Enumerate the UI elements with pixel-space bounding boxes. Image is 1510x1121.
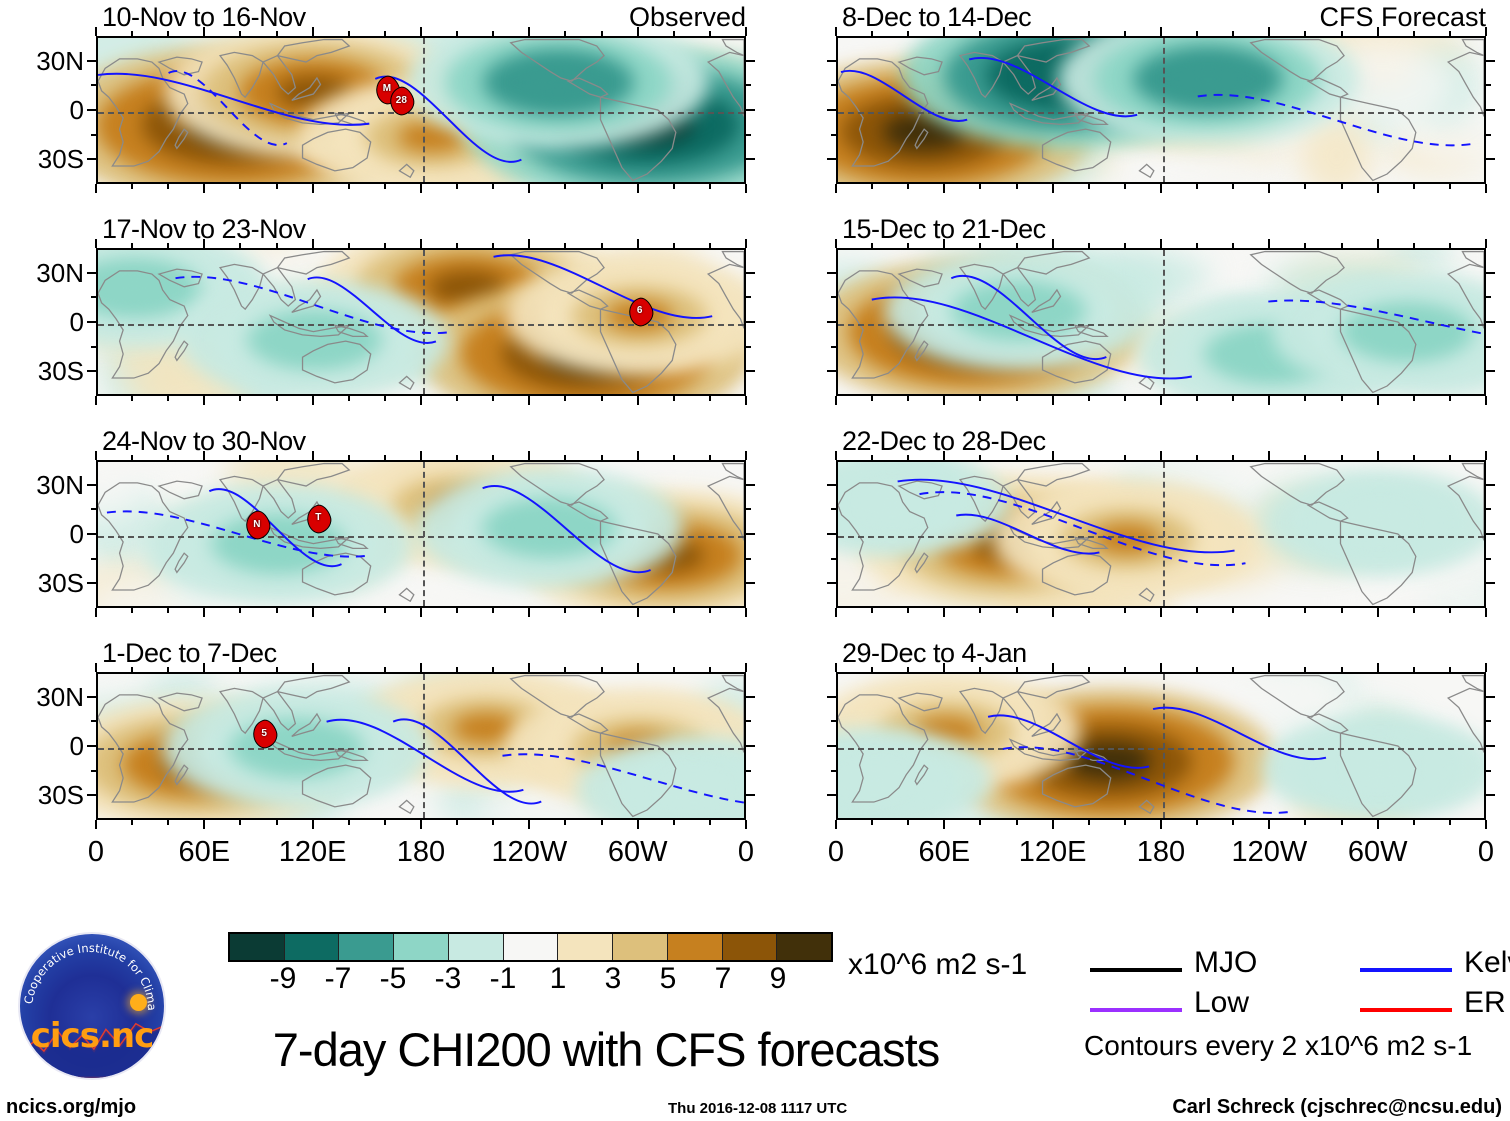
colorbar-swatch: [668, 934, 723, 960]
axis-tick: [871, 243, 873, 248]
axis-tick: [239, 608, 241, 613]
storm-label: N: [246, 511, 268, 537]
axis-tick: [276, 455, 278, 460]
axis-tick: [1486, 60, 1495, 62]
axis-tick: [835, 27, 837, 36]
storm-marker: N: [246, 511, 268, 537]
legend-label: ER: [1464, 986, 1506, 1020]
axis-tick: [827, 370, 836, 372]
axis-tick: [1485, 608, 1487, 617]
axis-tick: [979, 608, 981, 613]
axis-tick: [746, 794, 755, 796]
axis-tick: [131, 31, 133, 36]
x-axis-label: 120W: [469, 836, 589, 869]
axis-tick: [673, 396, 675, 401]
axis-tick: [1341, 31, 1343, 36]
axis-tick: [1124, 667, 1126, 672]
axis-tick: [1196, 396, 1198, 401]
axis-tick: [1486, 109, 1495, 111]
axis-tick: [601, 243, 603, 248]
panel-title-p4: 1-Dec to 7-Dec: [102, 638, 277, 669]
axis-tick: [827, 745, 836, 747]
axis-tick: [746, 558, 751, 560]
axis-tick: [831, 508, 836, 510]
legend-label: Kelvin x2: [1464, 946, 1510, 980]
axis-tick: [907, 608, 909, 613]
axis-tick: [91, 296, 96, 298]
figure-title: 7-day CHI200 with CFS forecasts: [196, 1022, 1016, 1077]
axis-tick: [1268, 184, 1270, 193]
colorbar-swatch: [339, 934, 394, 960]
axis-tick: [831, 558, 836, 560]
axis-tick: [871, 608, 873, 613]
axis-tick: [1485, 820, 1487, 829]
axis-tick: [1486, 484, 1495, 486]
axis-tick: [1341, 455, 1343, 460]
axis-tick: [746, 370, 755, 372]
axis-tick: [312, 608, 314, 617]
storm-label: 28: [390, 87, 412, 113]
axis-tick: [239, 31, 241, 36]
axis-tick: [276, 31, 278, 36]
storm-label: 5: [253, 720, 275, 746]
legend-line-mjo: [1090, 968, 1182, 972]
axis-tick: [312, 396, 314, 405]
axis-tick: [1413, 31, 1415, 36]
axis-tick: [420, 608, 422, 617]
axis-tick: [1377, 451, 1379, 460]
cics-nc-logo: cics.nc Cooperative Institute for Climat…: [14, 928, 166, 1080]
axis-tick: [827, 272, 836, 274]
axis-tick: [564, 396, 566, 401]
axis-tick: [673, 608, 675, 613]
axis-tick: [564, 31, 566, 36]
axis-tick: [1341, 184, 1343, 189]
axis-tick: [1196, 243, 1198, 248]
x-axis-label: 180: [361, 836, 481, 869]
colorbar-swatch: [285, 934, 340, 960]
axis-tick: [673, 820, 675, 825]
axis-tick: [87, 370, 96, 372]
kelvin-wave-contours: [838, 250, 1484, 394]
y-axis-label: 0: [0, 95, 84, 126]
x-axis-label: 0: [1426, 836, 1510, 869]
axis-tick: [709, 396, 711, 401]
axis-tick: [1124, 608, 1126, 613]
axis-tick: [420, 27, 422, 36]
x-axis-label: 120E: [993, 836, 1113, 869]
axis-tick: [528, 608, 530, 617]
axis-tick: [637, 608, 639, 617]
axis-tick: [384, 667, 386, 672]
legend-label: MJO: [1194, 946, 1257, 980]
axis-tick: [1449, 396, 1451, 401]
axis-tick: [492, 608, 494, 613]
colorbar-swatch: [558, 934, 613, 960]
axis-tick: [601, 396, 603, 401]
axis-tick: [1268, 608, 1270, 617]
axis-tick: [91, 558, 96, 560]
axis-tick: [943, 451, 945, 460]
axis-tick: [1377, 239, 1379, 248]
axis-tick: [420, 239, 422, 248]
axis-tick: [1052, 184, 1054, 193]
kelvin-wave-contours: [98, 462, 744, 606]
colorbar: [228, 932, 833, 962]
axis-tick: [131, 667, 133, 672]
axis-tick: [1449, 31, 1451, 36]
axis-tick: [456, 608, 458, 613]
y-axis-label: 30N: [0, 258, 84, 289]
axis-tick: [1232, 31, 1234, 36]
axis-tick: [979, 396, 981, 401]
axis-tick: [673, 31, 675, 36]
axis-tick: [709, 820, 711, 825]
axis-tick: [1268, 396, 1270, 405]
storm-label: T: [307, 505, 329, 531]
colorbar-swatch: [504, 934, 559, 960]
axis-tick: [384, 243, 386, 248]
axis-tick: [167, 455, 169, 460]
axis-tick: [87, 794, 96, 796]
colorbar-units-label: x10^6 m2 s-1: [848, 948, 1027, 982]
axis-tick: [831, 770, 836, 772]
axis-tick: [167, 667, 169, 672]
axis-tick: [1052, 451, 1054, 460]
axis-tick: [746, 158, 755, 160]
axis-tick: [456, 820, 458, 825]
axis-tick: [871, 455, 873, 460]
axis-tick: [835, 239, 837, 248]
legend-line-er: [1360, 1008, 1452, 1012]
axis-tick: [637, 451, 639, 460]
axis-tick: [1377, 663, 1379, 672]
axis-tick: [1341, 820, 1343, 825]
axis-tick: [131, 820, 133, 825]
axis-tick: [564, 820, 566, 825]
axis-tick: [384, 396, 386, 401]
axis-tick: [1486, 84, 1491, 86]
axis-tick: [637, 239, 639, 248]
axis-tick: [1486, 508, 1491, 510]
axis-tick: [91, 84, 96, 86]
axis-tick: [1124, 455, 1126, 460]
axis-tick: [601, 820, 603, 825]
axis-tick: [87, 582, 96, 584]
axis-tick: [907, 667, 909, 672]
axis-tick: [276, 667, 278, 672]
axis-tick: [1268, 820, 1270, 829]
axis-tick: [1304, 608, 1306, 613]
axis-tick: [1304, 31, 1306, 36]
legend-line-low: [1090, 1008, 1182, 1012]
axis-tick: [348, 243, 350, 248]
axis-tick: [637, 663, 639, 672]
axis-tick: [1232, 396, 1234, 401]
axis-tick: [1486, 794, 1495, 796]
axis-tick: [1413, 667, 1415, 672]
storm-marker: 28: [390, 87, 412, 113]
axis-tick: [871, 396, 873, 401]
legend-label: Low: [1194, 986, 1249, 1020]
axis-tick: [312, 27, 314, 36]
axis-tick: [1088, 396, 1090, 401]
axis-tick: [827, 60, 836, 62]
axis-tick: [1486, 370, 1495, 372]
axis-tick: [1196, 455, 1198, 460]
axis-tick: [91, 508, 96, 510]
axis-tick: [637, 820, 639, 829]
axis-tick: [528, 27, 530, 36]
axis-tick: [87, 60, 96, 62]
axis-tick: [745, 239, 747, 248]
kelvin-wave-contours: [98, 674, 744, 818]
axis-tick: [348, 455, 350, 460]
map-p3: NT: [96, 460, 746, 608]
axis-tick: [831, 296, 836, 298]
axis-tick: [1413, 184, 1415, 189]
axis-tick: [420, 663, 422, 672]
footer-author: Carl Schreck (cjschrec@ncsu.edu): [1172, 1096, 1502, 1119]
axis-tick: [456, 31, 458, 36]
footer-website[interactable]: ncics.org/mjo: [6, 1096, 136, 1119]
axis-tick: [1485, 451, 1487, 460]
axis-tick: [276, 820, 278, 825]
axis-tick: [1088, 31, 1090, 36]
axis-tick: [637, 396, 639, 405]
axis-tick: [1449, 184, 1451, 189]
axis-tick: [1413, 820, 1415, 825]
axis-tick: [564, 243, 566, 248]
map-p4: 5: [96, 672, 746, 820]
axis-tick: [456, 243, 458, 248]
kelvin-wave-contours: [838, 462, 1484, 606]
axis-tick: [384, 184, 386, 189]
axis-tick: [420, 184, 422, 193]
axis-tick: [384, 31, 386, 36]
axis-tick: [276, 396, 278, 401]
axis-tick: [673, 184, 675, 189]
axis-tick: [1016, 455, 1018, 460]
map-p6: [836, 248, 1486, 396]
x-axis-label: 60W: [578, 836, 698, 869]
svg-text:Cooperative Institute for Clim: Cooperative Institute for Climate and Sa…: [14, 928, 159, 1011]
axis-tick: [528, 396, 530, 405]
axis-tick: [1232, 243, 1234, 248]
axis-tick: [709, 667, 711, 672]
x-axis-label: 60E: [144, 836, 264, 869]
axis-tick: [492, 31, 494, 36]
axis-tick: [1413, 455, 1415, 460]
storm-marker: 5: [253, 720, 275, 746]
axis-tick: [746, 109, 755, 111]
axis-tick: [1486, 346, 1491, 348]
axis-tick: [1341, 243, 1343, 248]
axis-tick: [1449, 243, 1451, 248]
map-p2: 6: [96, 248, 746, 396]
axis-tick: [528, 239, 530, 248]
axis-tick: [709, 31, 711, 36]
axis-tick: [167, 31, 169, 36]
axis-tick: [1304, 396, 1306, 401]
axis-tick: [1304, 455, 1306, 460]
axis-tick: [1485, 396, 1487, 405]
footer-timestamp: Thu 2016-12-08 1117 UTC: [668, 1100, 847, 1117]
colorbar-tick-label: 9: [738, 962, 818, 996]
axis-tick: [943, 184, 945, 193]
axis-tick: [1196, 31, 1198, 36]
axis-tick: [420, 820, 422, 829]
axis-tick: [1160, 820, 1162, 829]
axis-tick: [746, 134, 751, 136]
x-axis-label: 120E: [253, 836, 373, 869]
axis-tick: [91, 770, 96, 772]
axis-tick: [420, 396, 422, 405]
axis-tick: [831, 84, 836, 86]
axis-tick: [601, 667, 603, 672]
axis-tick: [827, 158, 836, 160]
axis-tick: [1160, 663, 1162, 672]
panel-title-p5: 8-Dec to 14-Dec: [842, 2, 1031, 33]
axis-tick: [95, 451, 97, 460]
axis-tick: [312, 239, 314, 248]
axis-tick: [1232, 608, 1234, 613]
axis-tick: [456, 396, 458, 401]
y-axis-label: 0: [0, 519, 84, 550]
axis-tick: [745, 608, 747, 617]
axis-tick: [1124, 31, 1126, 36]
axis-tick: [1485, 27, 1487, 36]
axis-tick: [827, 696, 836, 698]
axis-tick: [709, 184, 711, 189]
map-p5: [836, 36, 1486, 184]
axis-tick: [167, 608, 169, 613]
axis-tick: [312, 451, 314, 460]
axis-tick: [1160, 396, 1162, 405]
axis-tick: [131, 243, 133, 248]
axis-tick: [601, 455, 603, 460]
y-axis-label: 30S: [0, 356, 84, 387]
legend-line-kelvin-x2: [1360, 968, 1452, 972]
storm-label: 6: [629, 298, 651, 324]
axis-tick: [831, 346, 836, 348]
axis-tick: [167, 184, 169, 189]
axis-tick: [1413, 396, 1415, 401]
axis-tick: [1486, 745, 1495, 747]
axis-tick: [1449, 608, 1451, 613]
axis-tick: [1413, 608, 1415, 613]
panel-title-p8: 29-Dec to 4-Jan: [842, 638, 1027, 669]
axis-tick: [1377, 608, 1379, 617]
axis-tick: [91, 134, 96, 136]
axis-tick: [1341, 667, 1343, 672]
axis-tick: [907, 31, 909, 36]
axis-tick: [835, 451, 837, 460]
axis-tick: [907, 243, 909, 248]
axis-tick: [746, 484, 755, 486]
axis-tick: [95, 396, 97, 405]
axis-tick: [91, 346, 96, 348]
axis-tick: [87, 109, 96, 111]
axis-tick: [1304, 243, 1306, 248]
axis-tick: [95, 820, 97, 829]
axis-tick: [1052, 820, 1054, 829]
axis-tick: [709, 243, 711, 248]
axis-tick: [745, 396, 747, 405]
axis-tick: [1232, 667, 1234, 672]
axis-tick: [1486, 321, 1495, 323]
axis-tick: [492, 455, 494, 460]
axis-tick: [87, 696, 96, 698]
axis-tick: [203, 184, 205, 193]
storm-marker: 6: [629, 298, 651, 324]
axis-tick: [1160, 27, 1162, 36]
axis-tick: [1232, 820, 1234, 825]
axis-tick: [1088, 184, 1090, 189]
axis-tick: [1268, 27, 1270, 36]
axis-tick: [709, 455, 711, 460]
axis-tick: [312, 184, 314, 193]
axis-tick: [871, 667, 873, 672]
axis-tick: [1196, 667, 1198, 672]
axis-tick: [528, 184, 530, 193]
axis-tick: [943, 608, 945, 617]
axis-tick: [239, 455, 241, 460]
axis-tick: [131, 184, 133, 189]
axis-tick: [1196, 184, 1198, 189]
y-axis-label: 30S: [0, 780, 84, 811]
axis-tick: [312, 663, 314, 672]
axis-tick: [87, 533, 96, 535]
axis-tick: [528, 663, 530, 672]
axis-tick: [835, 820, 837, 829]
axis-tick: [746, 296, 751, 298]
axis-tick: [1268, 663, 1270, 672]
axis-tick: [1232, 455, 1234, 460]
axis-tick: [384, 608, 386, 613]
axis-tick: [979, 667, 981, 672]
axis-tick: [979, 243, 981, 248]
axis-tick: [746, 272, 755, 274]
axis-tick: [564, 184, 566, 189]
axis-tick: [1160, 184, 1162, 193]
axis-tick: [87, 745, 96, 747]
axis-tick: [1196, 820, 1198, 825]
x-axis-label: 0: [776, 836, 896, 869]
axis-tick: [827, 794, 836, 796]
axis-tick: [871, 184, 873, 189]
contour-interval-note: Contours every 2 x10^6 m2 s-1: [1084, 1030, 1472, 1062]
storm-marker: T: [307, 505, 329, 531]
axis-tick: [1486, 533, 1495, 535]
axis-tick: [907, 455, 909, 460]
axis-tick: [746, 582, 755, 584]
axis-tick: [1016, 243, 1018, 248]
axis-tick: [835, 396, 837, 405]
axis-tick: [831, 720, 836, 722]
axis-tick: [1016, 184, 1018, 189]
axis-tick: [637, 184, 639, 193]
axis-tick: [87, 321, 96, 323]
axis-tick: [907, 396, 909, 401]
axis-tick: [420, 451, 422, 460]
axis-tick: [746, 696, 755, 698]
axis-tick: [167, 243, 169, 248]
axis-tick: [1088, 608, 1090, 613]
axis-tick: [871, 31, 873, 36]
axis-tick: [835, 184, 837, 193]
axis-tick: [1486, 272, 1495, 274]
